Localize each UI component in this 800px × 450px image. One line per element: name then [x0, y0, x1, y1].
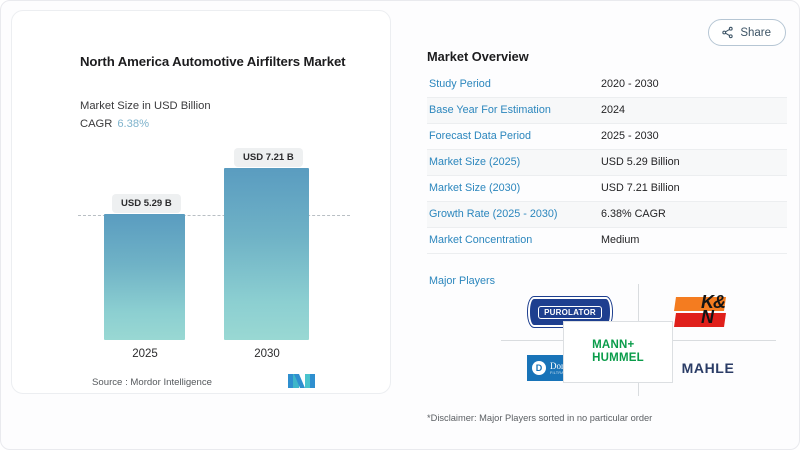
major-players-logo-grid: Purolator K&N D Donaldson FILTRATION SOL…	[501, 284, 776, 396]
donaldson-emblem-icon: D	[532, 361, 546, 375]
table-row: Base Year For Estimation 2024	[427, 97, 787, 123]
x-tick-2030: 2030	[222, 348, 312, 360]
market-overview-panel: Share Market Overview Study Period 2020 …	[416, 1, 800, 450]
table-row: Market Size (2025) USD 5.29 Billion	[427, 149, 787, 175]
row-label: Market Concentration	[427, 227, 599, 253]
x-tick-2025: 2025	[100, 348, 190, 360]
source-text: Source : Mordor Intelligence	[92, 377, 212, 388]
row-value: USD 5.29 Billion	[599, 149, 787, 175]
row-value: 6.38% CAGR	[599, 201, 787, 227]
mordor-intelligence-logo	[288, 373, 316, 394]
major-players-label: Major Players	[429, 275, 495, 287]
kn-wordmark: K&N	[701, 295, 741, 329]
share-button-label: Share	[740, 27, 771, 39]
row-value: 2020 - 2030	[599, 71, 787, 97]
bar-label-2030: USD 7.21 B	[234, 148, 303, 167]
table-row: Growth Rate (2025 - 2030) 6.38% CAGR	[427, 201, 787, 227]
bar-chart-plot: USD 5.29 B USD 7.21 B 2025 2030	[12, 11, 392, 395]
table-row: Forecast Data Period 2025 - 2030	[427, 123, 787, 149]
row-label: Market Size (2030)	[427, 175, 599, 201]
share-button[interactable]: Share	[708, 19, 786, 46]
row-label: Market Size (2025)	[427, 149, 599, 175]
disclaimer-text: *Disclaimer: Major Players sorted in no …	[427, 413, 652, 423]
purolator-wordmark: Purolator	[538, 306, 602, 319]
row-value: 2024	[599, 97, 787, 123]
row-label: Base Year For Estimation	[427, 97, 599, 123]
mahle-wordmark: MAHLE	[682, 360, 735, 376]
kn-mark: K&N	[675, 295, 741, 329]
row-value: USD 7.21 Billion	[599, 175, 787, 201]
row-value: 2025 - 2030	[599, 123, 787, 149]
table-row: Market Concentration Medium	[427, 227, 787, 253]
row-value: Medium	[599, 227, 787, 253]
mann-hummel-logo: MANN+ HUMMEL	[563, 321, 673, 383]
market-overview-table: Study Period 2020 - 2030 Base Year For E…	[427, 71, 787, 254]
mann-hummel-line2: HUMMEL	[592, 352, 644, 366]
bar-2030[interactable]	[224, 168, 309, 340]
bar-2025[interactable]	[104, 214, 185, 340]
report-page: North America Automotive Airfilters Mark…	[0, 0, 800, 450]
mann-hummel-line1: MANN+	[592, 339, 644, 353]
share-nodes-icon	[721, 26, 734, 39]
bar-label-2025: USD 5.29 B	[112, 194, 181, 213]
chart-card: North America Automotive Airfilters Mark…	[11, 10, 391, 394]
market-overview-title: Market Overview	[427, 49, 529, 64]
table-row: Market Size (2030) USD 7.21 Billion	[427, 175, 787, 201]
row-label: Forecast Data Period	[427, 123, 599, 149]
row-label: Growth Rate (2025 - 2030)	[427, 201, 599, 227]
mann-hummel-wordmark: MANN+ HUMMEL	[592, 339, 644, 366]
table-row: Study Period 2020 - 2030	[427, 71, 787, 97]
row-label: Study Period	[427, 71, 599, 97]
